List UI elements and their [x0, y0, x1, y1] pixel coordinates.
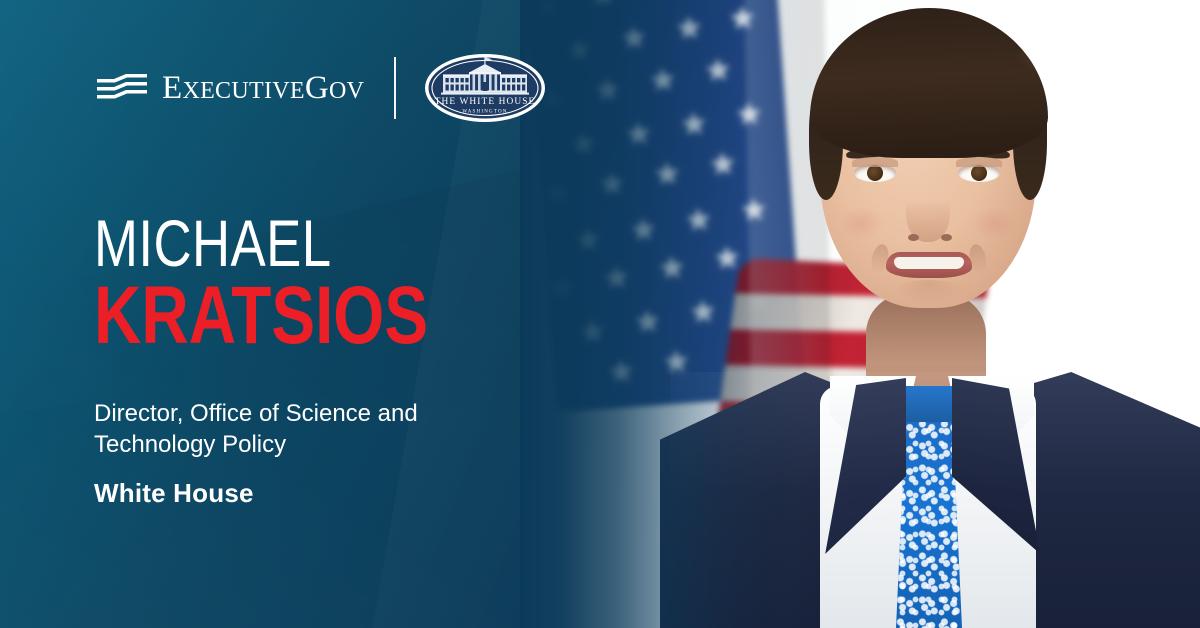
white-house-seal-icon: THE WHITE HOUSE WASHINGTON: [423, 52, 547, 124]
portrait-photo: ★ ★ ★ ★ ★ ★ ★ ★ ★ ★ ★ ★ ★ ★ ★ ★ ★: [520, 0, 1200, 628]
brand-e: E: [162, 70, 182, 106]
role-title: Director, Office of Science and Technolo…: [94, 398, 524, 460]
brand-g: G: [305, 70, 329, 106]
organization-name: White House: [94, 478, 254, 509]
seal-line-1: THE WHITE HOUSE: [435, 97, 536, 107]
brand-ov: OV: [329, 78, 364, 104]
logo-divider: [394, 57, 396, 119]
brand-wordmark: EXECUTIVEGOV: [162, 72, 364, 105]
brand-xecutive: XECUTIVE: [182, 78, 304, 104]
photo-left-fade: [520, 0, 820, 628]
promo-banner: ★ ★ ★ ★ ★ ★ ★ ★ ★ ★ ★ ★ ★ ★ ★ ★ ★: [0, 0, 1200, 628]
logo-row: EXECUTIVEGOV: [96, 56, 547, 120]
seal-line-2: WASHINGTON: [463, 110, 508, 115]
first-name: MICHAEL: [94, 212, 428, 275]
last-name: KRATSIOS: [94, 277, 428, 354]
hair: [810, 8, 1048, 158]
name-block: MICHAEL KRATSIOS: [94, 212, 512, 354]
wave-lines-icon: [96, 72, 148, 104]
